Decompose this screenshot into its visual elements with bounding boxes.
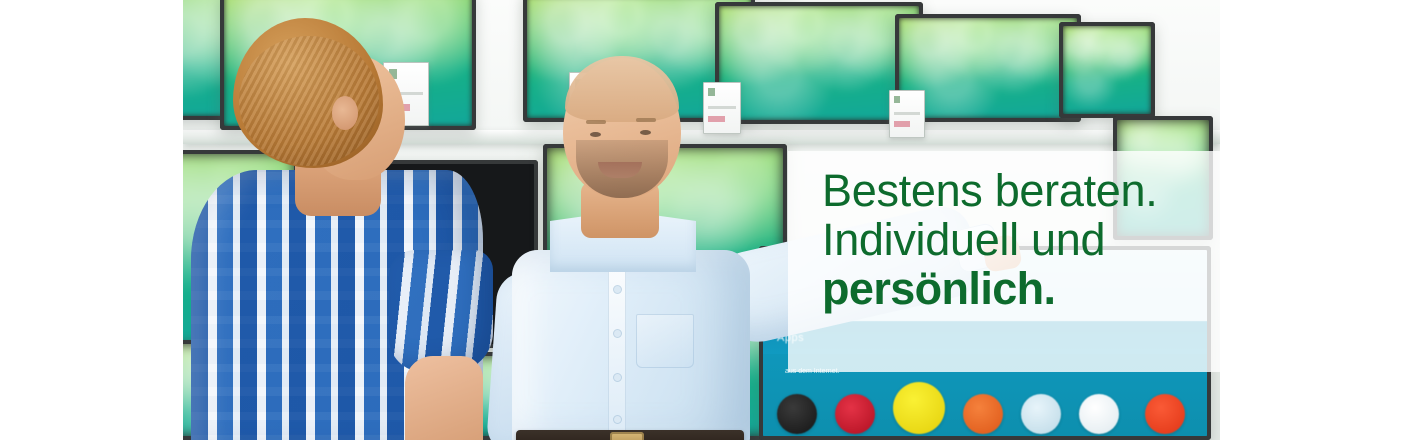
salesman-belt-buckle (610, 432, 644, 440)
headline-line-1: Bestens beraten. (822, 166, 1242, 215)
headline-line-3: persönlich. (822, 264, 1242, 313)
red-app-icon (1145, 394, 1185, 434)
salesman-eyebrow (586, 120, 606, 124)
salesman-shirt-button (614, 286, 621, 293)
customer-person (191, 18, 491, 440)
letterbox-left (0, 0, 183, 440)
window-app-icon (1079, 394, 1119, 434)
salesman-shirt-button (614, 374, 621, 381)
salesman-eye (590, 132, 601, 137)
salesman-scalp (565, 56, 679, 122)
salesman-eye (640, 130, 651, 135)
salesman-shirt-pocket (636, 314, 694, 368)
salesman-shirt-placket (608, 254, 626, 440)
customer-hair (233, 18, 383, 168)
photo-app-icon (1021, 394, 1061, 434)
display-tv (1059, 22, 1155, 118)
salesman-shirt-button (614, 330, 621, 337)
headline-line-2: Individuell und (822, 215, 1242, 264)
letterbox-right (1220, 0, 1403, 440)
salesman-shirt (512, 250, 750, 440)
screenshot-root: Apps aus dem Internet. (0, 0, 1403, 440)
customer-ear (332, 96, 358, 130)
headline-text-block: Bestens beraten. Individuell und persönl… (822, 166, 1242, 313)
salesman-eyebrow (636, 118, 656, 122)
salesman-shirt-button (614, 416, 621, 423)
